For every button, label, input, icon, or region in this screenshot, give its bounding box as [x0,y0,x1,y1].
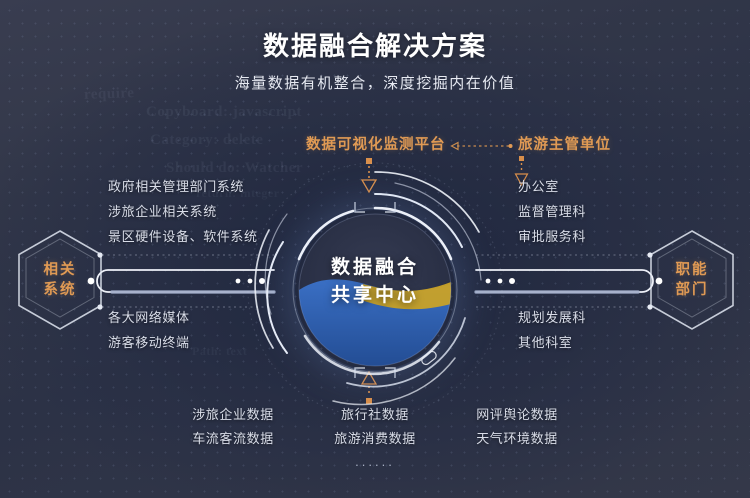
hex-left-line1: 相关 [44,260,77,280]
page-title: 数据融合解决方案 [0,26,750,63]
list-item[interactable]: 政府相关管理部门系统 [108,174,258,199]
right-departments-bottom-list: 规划发展科 其他科室 [518,305,586,355]
list-item[interactable]: 网评舆论数据 [463,404,571,423]
ellipsis-more: ...... [355,454,395,469]
list-item[interactable]: 监督管理科 [518,199,586,224]
label-visualization-platform[interactable]: 数据可视化监测平台 [306,133,446,154]
hexagon-related-systems[interactable]: 相关 系统 [14,228,106,332]
table-row: 涉旅企业数据 旅行社数据 网评舆论数据 [179,404,571,423]
list-item[interactable]: 审批服务科 [518,224,586,249]
hex-right-line1: 职能 [676,260,709,280]
left-sources-bottom-list: 各大网络媒体 游客移动终端 [108,305,190,355]
hexagon-right-text: 职能 部门 [646,228,738,332]
hexagon-functional-departments[interactable]: 职能 部门 [646,228,738,332]
table-row: 车流客流数据 旅游消费数据 天气环境数据 [179,428,571,447]
top-flow-row: 数据可视化监测平台 旅游主管单位 [0,133,750,155]
hexagon-left-text: 相关 系统 [14,228,106,332]
dotted-arrow-left-icon [451,142,513,150]
list-item[interactable]: 办公室 [518,174,586,199]
list-item[interactable]: 其他科室 [518,330,586,355]
list-item[interactable]: 各大网络媒体 [108,305,190,330]
hex-right-line2: 部门 [676,280,709,300]
sphere-glow [295,210,455,370]
watermark-text: Copyboard: javascript [146,104,302,121]
infographic-canvas: require Copyboard: javascript Category: … [0,0,750,498]
list-item[interactable]: 车流客流数据 [179,428,287,447]
label-tourism-authority[interactable]: 旅游主管单位 [518,133,611,154]
list-item[interactable]: 涉旅企业数据 [179,404,287,423]
list-item[interactable]: 规划发展科 [518,305,586,330]
bottom-data-sources: 涉旅企业数据 旅行社数据 网评舆论数据 车流客流数据 旅游消费数据 天气环境数据… [0,404,750,469]
hex-left-line2: 系统 [44,280,77,300]
page-subtitle: 海量数据有机整合，深度挖掘内在价值 [0,72,750,93]
list-item[interactable]: 涉旅企业相关系统 [108,199,258,224]
watermark-text: Path: text [192,344,247,359]
right-departments-top-list: 办公室 监督管理科 审批服务科 [518,174,586,249]
list-item[interactable]: 旅行社数据 [321,404,429,423]
data-fusion-hub[interactable]: 数据融合 共享中心 [243,158,507,422]
list-item[interactable]: 景区硬件设备、软件系统 [108,224,258,249]
list-item[interactable]: 游客移动终端 [108,330,190,355]
list-item[interactable]: 旅游消费数据 [321,428,429,447]
list-item[interactable]: 天气环境数据 [463,428,571,447]
left-sources-top-list: 政府相关管理部门系统 涉旅企业相关系统 景区硬件设备、软件系统 [108,174,258,249]
